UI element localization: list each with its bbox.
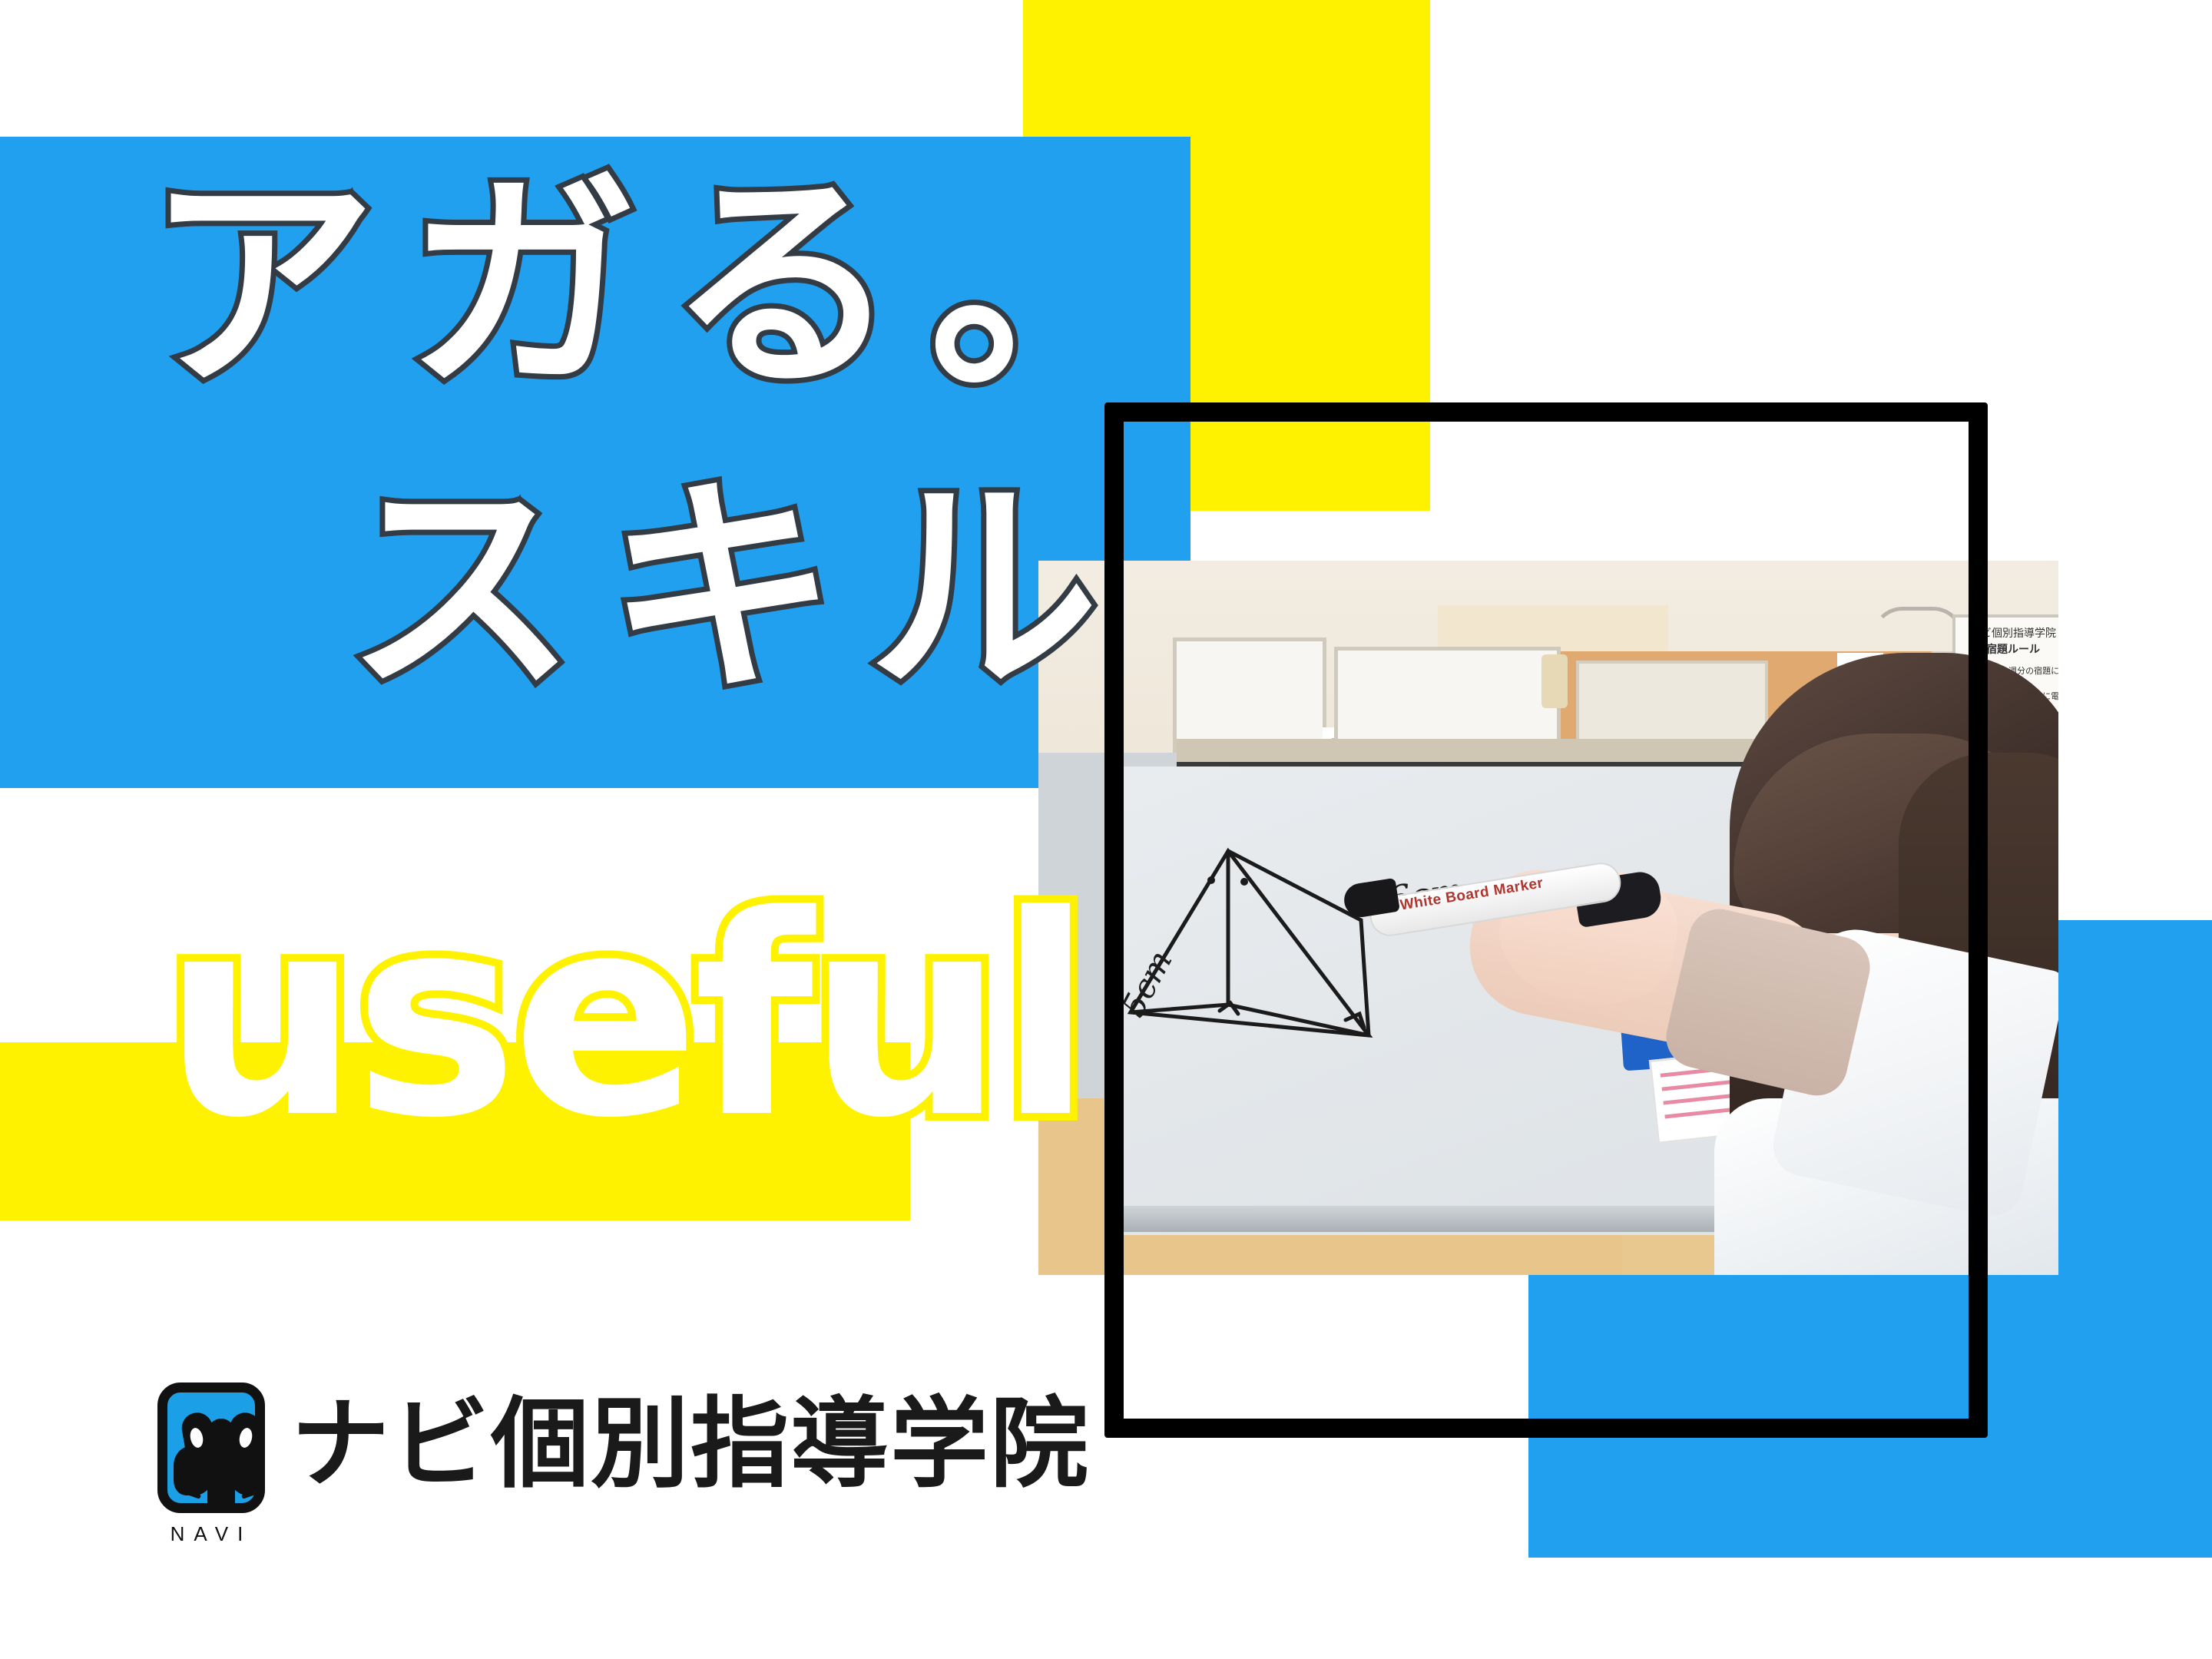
photo-black-frame (1104, 402, 1988, 1438)
logo-navi-text: NAVI (157, 1522, 265, 1546)
navi-bug-icon (157, 1382, 265, 1513)
headline-line-2: スキル (346, 475, 1129, 705)
logo-badge: NAVI (157, 1382, 265, 1546)
poster-canvas: B 6cm 5cm (0, 0, 2212, 1659)
headline-subtitle: useful (163, 879, 1087, 1156)
logo-brand-name: ナビ個別指導学院 (291, 1393, 1090, 1496)
brand-logo: NAVI ナビ個別指導学院 (157, 1382, 1090, 1546)
headline-line-1: アガる。 (146, 171, 1190, 401)
